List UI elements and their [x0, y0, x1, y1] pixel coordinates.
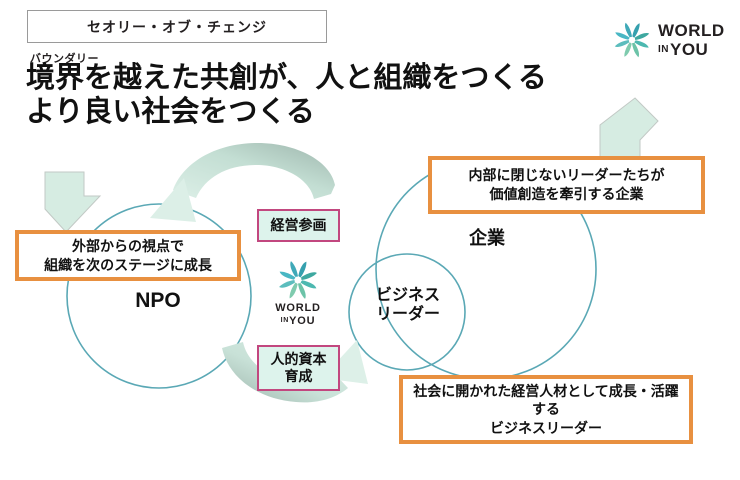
pink-label-human-capital-development: 人的資本 育成	[257, 345, 340, 391]
center-brand-logo: WORLD INYOU	[262, 258, 334, 327]
brand-logo: WORLD INYOU	[612, 18, 732, 62]
pink-label-management-participation: 経営参画	[257, 209, 340, 242]
center-brand-wordmark: WORLD INYOU	[275, 302, 321, 327]
brand-line2-small: IN	[658, 44, 669, 55]
theory-of-change-tag-label: セオリー・オブ・チェンジ	[87, 17, 267, 37]
theory-of-change-tag: セオリー・オブ・チェンジ	[27, 10, 327, 43]
pink-label-human-capital-development-text: 人的資本 育成	[271, 351, 327, 384]
callout-business-leader: 社会に開かれた経営人材として成長・活躍 する ビジネスリーダー	[399, 375, 693, 444]
pinwheel-icon	[612, 20, 652, 60]
callout-company: 内部に閉じないリーダーたちが 価値創造を牽引する企業	[428, 156, 705, 214]
brand-line2: INYOU	[658, 41, 725, 58]
top-cycle-arrow	[173, 143, 335, 199]
pink-label-management-participation-text: 経営参画	[271, 217, 327, 234]
circle-label-company: 企業	[432, 228, 542, 250]
callout-npo: 外部からの視点で 組織を次のステージに成長	[15, 230, 241, 281]
slide-canvas: セオリー・オブ・チェンジ バウンダリー 境界を越えた共創が、人と組織をつくる よ…	[0, 0, 740, 480]
chevron-left-icon	[45, 172, 100, 232]
center-brand-line2-main: YOU	[289, 315, 315, 327]
page-title: 境界を越えた共創が、人と組織をつくる より良い社会をつくる	[26, 62, 626, 129]
callout-npo-text: 外部からの視点で 組織を次のステージに成長	[44, 237, 212, 275]
circle-label-business-leader: ビジネス リーダー	[355, 286, 461, 324]
brand-line1: WORLD	[658, 22, 725, 39]
brand-wordmark: WORLD INYOU	[658, 22, 725, 58]
center-brand-line1: WORLD	[275, 302, 321, 314]
callout-business-leader-text: 社会に開かれた経営人材として成長・活躍 する ビジネスリーダー	[413, 382, 679, 437]
circle-label-npo: NPO	[103, 288, 213, 313]
brand-line2-main: YOU	[670, 40, 708, 59]
callout-company-text: 内部に閉じないリーダーたちが 価値創造を牽引する企業	[469, 166, 665, 204]
pinwheel-icon	[276, 258, 320, 302]
center-brand-line2-small: IN	[281, 317, 290, 324]
